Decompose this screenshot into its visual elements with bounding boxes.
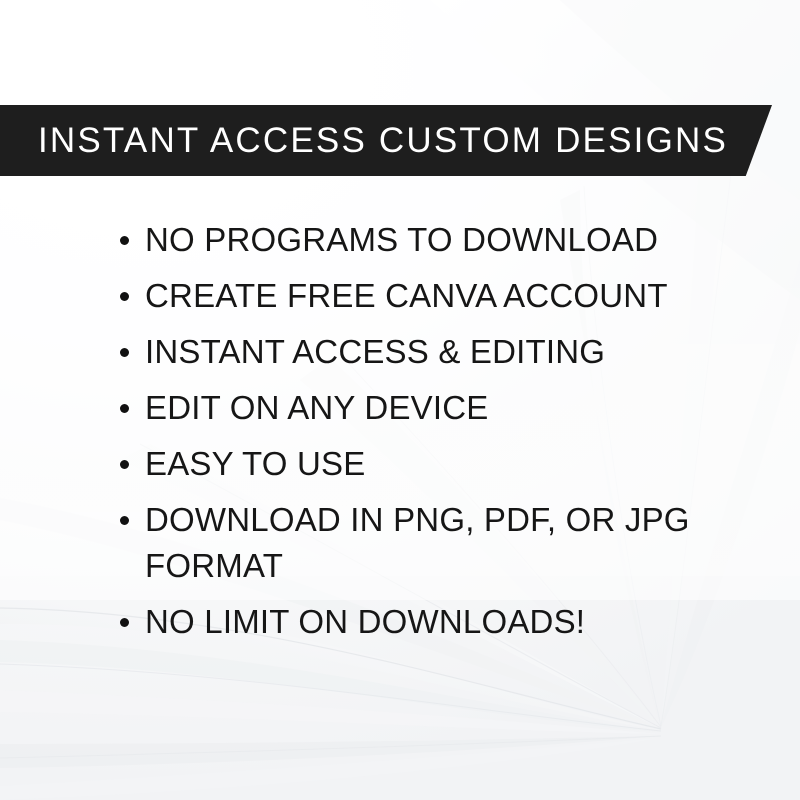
list-item-label: EASY TO USE <box>145 445 365 482</box>
list-item: EASY TO USE <box>118 441 718 487</box>
bullet-icon <box>120 516 129 525</box>
list-item-label: DOWNLOAD IN PNG, PDF, OR JPG FORMAT <box>145 501 690 584</box>
list-item: DOWNLOAD IN PNG, PDF, OR JPG FORMAT <box>118 497 718 589</box>
bullet-icon <box>120 348 129 357</box>
promo-poster: INSTANT ACCESS CUSTOM DESIGNS NO PROGRAM… <box>0 0 800 800</box>
bullet-icon <box>120 292 129 301</box>
bullet-icon <box>120 404 129 413</box>
list-item-label: CREATE FREE CANVA ACCOUNT <box>145 277 668 314</box>
list-item: INSTANT ACCESS & EDITING <box>118 329 718 375</box>
list-item-label: INSTANT ACCESS & EDITING <box>145 333 605 370</box>
list-item-label: NO LIMIT ON DOWNLOADS! <box>145 603 585 640</box>
bullet-icon <box>120 618 129 627</box>
banner-title-text: INSTANT ACCESS CUSTOM DESIGNS <box>38 123 728 158</box>
list-item: CREATE FREE CANVA ACCOUNT <box>118 273 718 319</box>
title-banner: INSTANT ACCESS CUSTOM DESIGNS <box>0 105 772 176</box>
bullet-icon <box>120 460 129 469</box>
feature-list: NO PROGRAMS TO DOWNLOAD CREATE FREE CANV… <box>118 217 718 645</box>
list-item: NO LIMIT ON DOWNLOADS! <box>118 599 718 645</box>
bullet-icon <box>120 236 129 245</box>
list-item: EDIT ON ANY DEVICE <box>118 385 718 431</box>
list-item: NO PROGRAMS TO DOWNLOAD <box>118 217 718 263</box>
list-item-label: NO PROGRAMS TO DOWNLOAD <box>145 221 658 258</box>
list-item-label: EDIT ON ANY DEVICE <box>145 389 488 426</box>
